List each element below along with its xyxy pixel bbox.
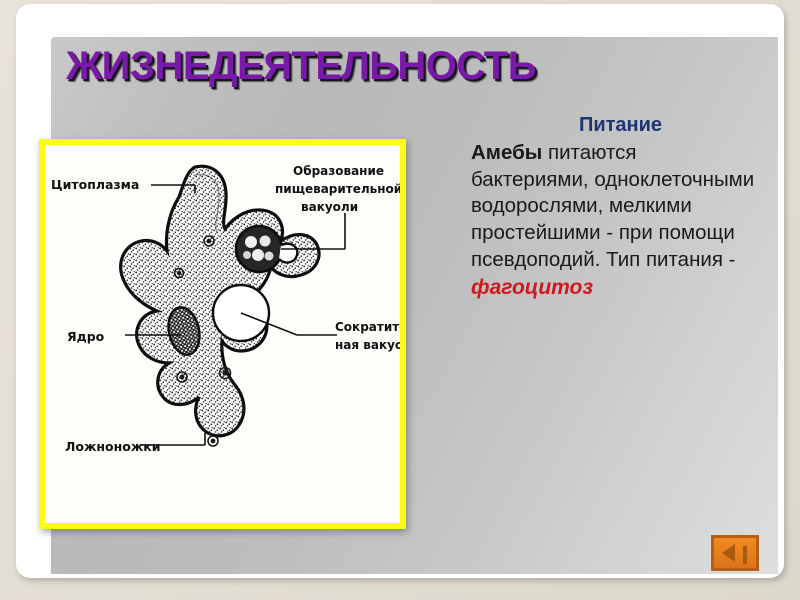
label-food-vacuole-line1: Образование bbox=[293, 164, 384, 178]
label-cytoplasm: Цитоплазма bbox=[51, 177, 139, 192]
highlight-term: фагоцитоз bbox=[471, 274, 756, 301]
slide-card: ЖИЗНЕДЕЯТЕЛЬНОСТЬ bbox=[16, 4, 784, 578]
amoeba-diagram-svg: Цитоплазма Образование пищеварительной в… bbox=[45, 145, 400, 523]
label-food-vacuole-line3: вакуоли bbox=[301, 200, 358, 214]
body-paragraph: Амебы питаются бактериями, одноклеточным… bbox=[471, 140, 756, 302]
label-contractile-vacuole-line1: Сократитель- bbox=[335, 320, 400, 334]
lead-in-term: Амебы bbox=[471, 141, 542, 164]
page-title: ЖИЗНЕДЕЯТЕЛЬНОСТЬ bbox=[66, 44, 536, 89]
diagram-figure-inner: Цитоплазма Образование пищеварительной в… bbox=[45, 145, 400, 523]
diagram-figure-frame: Цитоплазма Образование пищеварительной в… bbox=[39, 139, 406, 529]
label-pseudopodia: Ложноножки bbox=[65, 439, 161, 454]
back-navigation-button[interactable] bbox=[711, 535, 759, 571]
text-column: Питание Амебы питаются бактериями, однок… bbox=[471, 114, 756, 302]
label-nucleus: Ядро bbox=[67, 329, 105, 344]
section-heading: Питание bbox=[471, 114, 756, 137]
label-food-vacuole-line2: пищеварительной bbox=[275, 182, 400, 196]
label-contractile-vacuole-line2: ная вакуоль bbox=[335, 338, 400, 352]
